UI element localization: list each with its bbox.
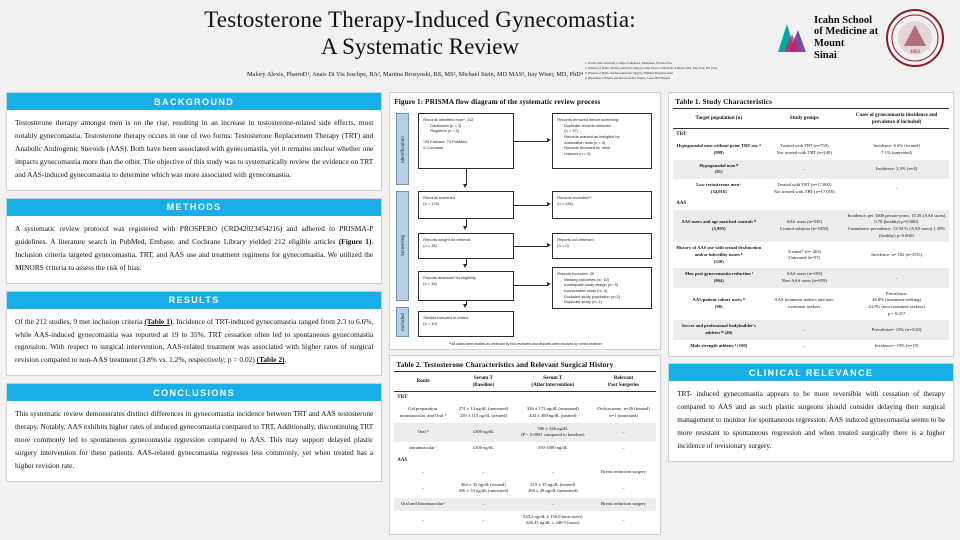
cell-gynecomastia-cases: Incidence: n= 182 (n=35%) bbox=[844, 242, 949, 268]
table-row: Men post gynecomastia reduction ᶠ(964)AA… bbox=[673, 268, 949, 287]
cell-target-population: Men post gynecomastia reduction ᶠ(964) bbox=[673, 268, 764, 287]
arrow-sought-to-not-retrieved bbox=[514, 246, 548, 247]
prisma-band-identification: Identification bbox=[396, 113, 409, 185]
prisma-band-screening: Screening bbox=[396, 191, 409, 301]
reports-not-retrieved-count: (n = 0) bbox=[557, 243, 647, 249]
cell-target-population: Hypogonadal men ᴮ(81) bbox=[673, 160, 764, 179]
cell-gynecomastia-cases: Incidence= 19% (n=19) bbox=[844, 340, 949, 353]
affiliation-list: 1. Florida State University College of M… bbox=[585, 61, 800, 81]
table-group-row: TRT bbox=[673, 129, 949, 141]
conclusions-heading: CONCLUSIONS bbox=[7, 384, 381, 401]
cell-target-population: AAS users and age matched controls ᴰ(5,9… bbox=[673, 210, 764, 243]
logo-line-3: Mount bbox=[814, 38, 878, 50]
table-row: Soccer and professional bodybuilder's at… bbox=[673, 320, 949, 339]
cell-study-groups: – bbox=[764, 320, 844, 339]
logo-line-4: Sinai bbox=[814, 50, 878, 62]
reports-sought-count: (n = 35) bbox=[423, 243, 509, 249]
svg-text:1863: 1863 bbox=[910, 50, 921, 55]
institution-logo: Icahn School of Medicine at Mount Sinai … bbox=[774, 6, 952, 70]
band-label: Included bbox=[400, 313, 405, 331]
table-row: Low testosterone men ᶜ(34,016)Treated wi… bbox=[673, 179, 949, 198]
cell-study-groups: AAS treatment seekers and non-treatment … bbox=[764, 288, 844, 321]
clinical-relevance-body: TRT- induced gynecomastia appears to be … bbox=[669, 381, 953, 461]
cell-route: Oral ᴮ bbox=[394, 423, 452, 442]
reports-assessed-count: (n = 35) bbox=[423, 281, 509, 287]
results-heading: RESULTS bbox=[7, 292, 381, 309]
cell-past-surgeries: Breast reduction surgery bbox=[591, 498, 657, 511]
column-left: BACKGROUND Testosterone therapy amongst … bbox=[6, 92, 382, 540]
cell-route: – bbox=[394, 466, 452, 479]
clinical-relevance-heading: CLINICAL RELEVANCE bbox=[669, 364, 953, 381]
figure-1-title: Figure 1: PRISMA flow diagram of the sys… bbox=[394, 97, 656, 106]
cell-target-population: Hypogonadal men without prior TRT use ᴬ(… bbox=[673, 140, 764, 159]
th-past-surgeries: Relevant Past Surgeries bbox=[591, 372, 657, 392]
cell-gynecomastia-cases: Prevalence= 15% (n=3/20) bbox=[844, 320, 949, 339]
arrowhead-icon bbox=[463, 226, 467, 230]
table-group-row: AAS bbox=[394, 455, 656, 466]
cell-study-groups: – bbox=[764, 340, 844, 353]
cell-route: Oral and Intramuscular ᶠ bbox=[394, 498, 452, 511]
table-group-label: AAS bbox=[673, 198, 949, 209]
table-2-title: Table 2. Testosterone Characteristics an… bbox=[396, 360, 656, 369]
reports-not-retrieved-label: Reports not retrieved bbox=[557, 237, 593, 242]
table-row: History of AAS use with sexual dysfuncti… bbox=[673, 242, 949, 268]
cell-serum-after: 326 ± 173 ng/dL (untreated)444 ± 300 ng/… bbox=[515, 403, 591, 422]
excl-duplicate: Duplicate study (n= 1) bbox=[557, 299, 647, 305]
cell-serum-baseline: ≤300 ng/dL bbox=[452, 423, 515, 442]
table-2-body: TRTGel preparation, intramuscular, and O… bbox=[394, 392, 656, 530]
results-body: Of the 212 studies, 9 met inclusion crit… bbox=[7, 309, 381, 376]
cell-serum-after: 415 ± 35 ng/dL (treated)260 ± 29 ng/dL (… bbox=[515, 479, 591, 498]
th-gynecomastia-cases: Cases of gynecomastia (incidence and pre… bbox=[844, 109, 949, 129]
logo-line-1: Icahn School bbox=[814, 15, 878, 27]
results-table1-ref: (Table 1) bbox=[144, 317, 172, 326]
cell-target-population: Low testosterone men ᶜ(34,016) bbox=[673, 179, 764, 198]
table-row-header: Route Serum T (Baseline) Serum T (After … bbox=[394, 372, 656, 392]
table-group-row: AAS bbox=[673, 198, 949, 209]
arrow-assessed-to-excluded bbox=[514, 285, 548, 286]
cell-study-groups: Treated with TRT (n=750)Not treated with… bbox=[764, 140, 844, 159]
cell-serum-baseline: – bbox=[452, 498, 515, 511]
records-removed-label: Records removed before screening: bbox=[557, 117, 619, 122]
cell-gynecomastia-cases: Incidence: 2.3% (n=2) bbox=[844, 160, 949, 179]
table-group-label: TRT bbox=[673, 129, 949, 141]
th-study-groups: Study groups bbox=[764, 109, 844, 129]
cell-route: – bbox=[394, 511, 452, 530]
results-text-3: . bbox=[285, 355, 287, 364]
prisma-box-records-removed: Records removed before screening: Duplic… bbox=[552, 113, 652, 169]
table-1-body: TRTHypogonadal men without prior TRT use… bbox=[673, 129, 949, 352]
prisma-box-records-excluded: Records excluded** (n = 136) bbox=[552, 191, 652, 219]
background-body: Testosterone therapy amongst men is on t… bbox=[7, 110, 381, 190]
prisma-box-reports-not-retrieved: Reports not retrieved (n = 0) bbox=[552, 233, 652, 259]
conclusions-body: This systematic review demonstrates dist… bbox=[7, 401, 381, 481]
table-row: Intramuscular ᶜ≤300 ng/dL350-1000 ng/dL– bbox=[394, 442, 656, 455]
arrowhead-icon bbox=[547, 282, 551, 286]
arrowhead-icon bbox=[463, 264, 467, 268]
cell-past-surgeries: – bbox=[591, 511, 657, 530]
cell-study-groups: Treated with TRT (n=17,000)Not treated w… bbox=[764, 179, 844, 198]
table-1: Target population (n) Study groups Cases… bbox=[673, 108, 949, 352]
cell-past-surgeries: Breast reduction surgery bbox=[591, 466, 657, 479]
prisma-box-records-identified: Records identified from*: 212 Databases … bbox=[418, 113, 514, 169]
table-row: AAS patient cohort users ᴳ(90)AAS treatm… bbox=[673, 288, 949, 321]
table-row: ––545.2 ng/dL ± 156.0 (non-users)649.45 … bbox=[394, 511, 656, 530]
cell-past-surgeries: – bbox=[591, 479, 657, 498]
cell-serum-after: 506 ± 346 ng/dL(P < 0.0001 compared to b… bbox=[515, 423, 591, 442]
reports-assessed-label: Reports assessed for eligibility bbox=[423, 275, 476, 280]
table-row: Oral ᴮ≤300 ng/dL506 ± 346 ng/dL(P < 0.00… bbox=[394, 423, 656, 442]
prisma-band-included: Included bbox=[396, 307, 409, 337]
table-row: –––Breast reduction surgery bbox=[394, 466, 656, 479]
poster-header: Testosterone Therapy-Induced Gynecomasti… bbox=[0, 0, 960, 88]
table-row-header: Target population (n) Study groups Cases… bbox=[673, 109, 949, 129]
arrowhead-icon bbox=[463, 304, 467, 308]
studies-included-label: Studies included in review bbox=[423, 315, 468, 320]
cell-serum-after: – bbox=[515, 498, 591, 511]
results-text-1: Of the 212 studies, 9 met inclusion crit… bbox=[15, 317, 144, 326]
methods-figure-ref: (Figure 1) bbox=[339, 237, 372, 246]
th-route: Route bbox=[394, 372, 452, 392]
cell-study-groups: Treated* (n= 463)Untreated (n=57) bbox=[764, 242, 844, 268]
cell-serum-after: – bbox=[515, 466, 591, 479]
cell-study-groups: – bbox=[764, 160, 844, 179]
prisma-box-records-screened: Records screened (n = 175) bbox=[418, 191, 514, 219]
cell-target-population: AAS patient cohort users ᴳ(90) bbox=[673, 288, 764, 321]
cell-serum-after: 350-1000 ng/dL bbox=[515, 442, 591, 455]
table-2: Route Serum T (Baseline) Serum T (After … bbox=[394, 371, 656, 530]
band-label: Identification bbox=[400, 136, 405, 163]
table-row: Male strength athletes ᴵ (100)–Incidence… bbox=[673, 340, 949, 353]
records-excluded-count: (n = 136) bbox=[557, 201, 647, 207]
records-screened-count: (n = 175) bbox=[423, 201, 509, 207]
arrowhead-icon bbox=[547, 202, 551, 206]
cell-serum-baseline: – bbox=[452, 511, 515, 530]
arrow-identified-to-removed bbox=[514, 141, 548, 142]
cell-gynecomastia-cases: Prevalence:48.8% (treatment-seeking)24.5… bbox=[844, 288, 949, 321]
section-background: BACKGROUND Testosterone therapy amongst … bbox=[6, 92, 382, 191]
methods-heading: METHODS bbox=[7, 199, 381, 216]
table-row: AAS users and age matched controls ᴰ(5,9… bbox=[673, 210, 949, 243]
cell-serum-baseline: ≤300 ng/dL bbox=[452, 442, 515, 455]
arrowhead-icon bbox=[547, 243, 551, 247]
other-count: reasons (n = 0) bbox=[557, 151, 647, 157]
records-screened-label: Records screened bbox=[423, 195, 455, 200]
cell-gynecomastia-cases: Incidence, per 1000 person-years: 10.39 … bbox=[844, 210, 949, 243]
table-row: –464 ± 35 ng/dL (treated)456 ± 53 ng/dL … bbox=[394, 479, 656, 498]
table-row: Hypogonadal men without prior TRT use ᴬ(… bbox=[673, 140, 949, 159]
affiliation-item: 4. Department of Plastic and Reconstruct… bbox=[585, 76, 800, 81]
cell-target-population: Soccer and professional bodybuilder's at… bbox=[673, 320, 764, 339]
poster-columns: BACKGROUND Testosterone therapy amongst … bbox=[0, 92, 960, 540]
reports-excluded-label: Reports excluded: 25 bbox=[557, 271, 594, 276]
cell-route: – bbox=[394, 479, 452, 498]
prisma-flow-diagram: Identification Screening Included Record… bbox=[394, 109, 656, 341]
prisma-box-reports-sought: Reports sought for retrieval (n = 35) bbox=[418, 233, 514, 259]
figure-1-footnote: **All cases were marked as irrelevant by… bbox=[394, 342, 656, 346]
results-table2-ref: (Table 2) bbox=[257, 355, 285, 364]
cell-route: Intramuscular ᶜ bbox=[394, 442, 452, 455]
th-serum-baseline: Serum T (Baseline) bbox=[452, 372, 515, 392]
records-excluded-label: Records excluded** bbox=[557, 195, 591, 200]
arrow-screened-to-excluded bbox=[514, 205, 548, 206]
th-target-population: Target population (n) bbox=[673, 109, 764, 129]
author-list: Malory Alexis, PharmD¹, Anais Di Via Ios… bbox=[0, 71, 960, 78]
mount-sinai-mark-icon bbox=[774, 18, 810, 58]
section-results: RESULTS Of the 212 studies, 9 met inclus… bbox=[6, 291, 382, 377]
methods-body: A systematic review protocol was registe… bbox=[7, 216, 381, 283]
page-title: Testosterone Therapy-Induced Gynecomasti… bbox=[60, 6, 780, 33]
table-2-card: Table 2. Testosterone Characteristics an… bbox=[389, 355, 661, 535]
prisma-box-reports-assessed: Reports assessed for eligibility (n = 35… bbox=[418, 271, 514, 301]
cell-target-population: History of AAS use with sexual dysfuncti… bbox=[673, 242, 764, 268]
table-group-row: TRT bbox=[394, 392, 656, 404]
column-middle: Figure 1: PRISMA flow diagram of the sys… bbox=[389, 92, 661, 540]
cell-serum-baseline: 464 ± 35 ng/dL (treated)456 ± 53 ng/dL (… bbox=[452, 479, 515, 498]
methods-text-1: A systematic review protocol was registe… bbox=[15, 224, 373, 246]
table-row: Hypogonadal men ᴮ(81)–Incidence: 2.3% (n… bbox=[673, 160, 949, 179]
th-serum-after: Serum T (After intervention) bbox=[515, 372, 591, 392]
records-registers: Registers (n = 0) bbox=[423, 128, 509, 134]
poster-root: Testosterone Therapy-Induced Gynecomasti… bbox=[0, 0, 960, 540]
studies-included-count: (n = 10) bbox=[423, 321, 509, 327]
table-row: Oral and Intramuscular ᶠ––Breast reducti… bbox=[394, 498, 656, 511]
table-1-title: Table 1. Study Characteristics bbox=[675, 97, 949, 106]
cell-study-groups: AAS users (n=105)Non-AAS users (n=859) bbox=[764, 268, 844, 287]
prisma-box-reports-excluded: Reports excluded: 25 Missing outcomes (n… bbox=[552, 267, 652, 309]
cell-study-groups: AAS users (n=545)Control subjects (n=545… bbox=[764, 210, 844, 243]
arrowhead-icon bbox=[463, 184, 467, 188]
column-right: Table 1. Study Characteristics Target po… bbox=[668, 92, 954, 540]
cell-serum-after: 545.2 ng/dL ± 156.0 (non-users)649.45 ng… bbox=[515, 511, 591, 530]
section-methods: METHODS A systematic review protocol was… bbox=[6, 198, 382, 284]
arrow-identified-to-screened bbox=[466, 169, 467, 185]
records-identified-label: Records identified from*: 212 bbox=[423, 117, 473, 122]
cell-gynecomastia-cases: Incidence: 6.6% (treated)7.1% (untreated… bbox=[844, 140, 949, 159]
cell-gynecomastia-cases: – bbox=[844, 268, 949, 287]
band-label: Screening bbox=[400, 235, 405, 256]
background-heading: BACKGROUND bbox=[7, 93, 381, 110]
page-subtitle: A Systematic Review bbox=[60, 33, 780, 62]
logo-line-2: of Medicine at bbox=[814, 26, 878, 38]
cell-target-population: Male strength athletes ᴵ (100) bbox=[673, 340, 764, 353]
table-group-label: TRT bbox=[394, 392, 656, 404]
cell-gynecomastia-cases: – bbox=[844, 179, 949, 198]
records-source-note-2: 5 Cochrane bbox=[423, 145, 509, 151]
prisma-box-studies-included: Studies included in review (n = 10) bbox=[418, 311, 514, 337]
cell-past-surgeries: Orchiectomy: n=26 (treated)n=1 (untreate… bbox=[591, 403, 657, 422]
section-conclusions: CONCLUSIONS This systematic review demon… bbox=[6, 383, 382, 482]
logo-wordmark: Icahn School of Medicine at Mount Sinai bbox=[814, 15, 878, 62]
table-group-label: AAS bbox=[394, 455, 656, 466]
reports-sought-label: Reports sought for retrieval bbox=[423, 237, 470, 242]
cell-route: Gel preparation, intramuscular, and Oral… bbox=[394, 403, 452, 422]
cell-past-surgeries: – bbox=[591, 442, 657, 455]
university-seal-icon: 1863 bbox=[884, 8, 946, 68]
cell-serum-baseline: – bbox=[452, 466, 515, 479]
table-row: Gel preparation, intramuscular, and Oral… bbox=[394, 403, 656, 422]
cell-past-surgeries: – bbox=[591, 423, 657, 442]
figure-1-card: Figure 1: PRISMA flow diagram of the sys… bbox=[389, 92, 661, 350]
section-clinical-relevance: CLINICAL RELEVANCE TRT- induced gynecoma… bbox=[668, 363, 954, 462]
cell-serum-baseline: 274 ± 14 ng/dL (untreated)239 ± 115 ng/d… bbox=[452, 403, 515, 422]
table-1-card: Table 1. Study Characteristics Target po… bbox=[668, 92, 954, 357]
arrowhead-icon bbox=[547, 138, 551, 142]
